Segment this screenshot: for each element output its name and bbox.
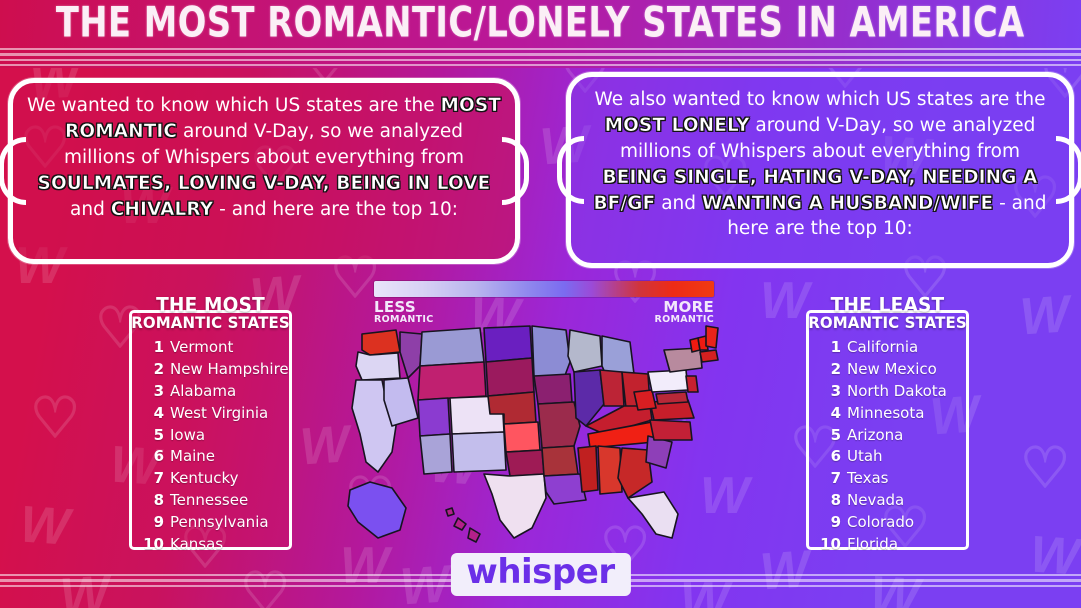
- rank-number: 2: [819, 359, 841, 381]
- callout-segment-0: We wanted to know which US states are th…: [27, 95, 441, 116]
- callout-segment-4: and: [655, 193, 702, 214]
- map-state-md: [656, 392, 688, 404]
- watermark-w-icon: W: [758, 543, 807, 598]
- legend-more-main: MORE: [663, 298, 714, 316]
- stripe-line: [0, 64, 1081, 66]
- state-name: Pennsylvania: [170, 512, 269, 534]
- map-state-ak: [348, 482, 406, 538]
- least-romantic-heading: THE LEAST ROMANTIC STATES: [793, 295, 983, 332]
- rank-number: 5: [142, 425, 164, 447]
- map-state-az: [420, 434, 452, 474]
- state-name: Maine: [170, 446, 215, 468]
- map-state-wv: [634, 390, 656, 410]
- state-name: New Mexico: [847, 359, 937, 381]
- most-lonely-callout: We also wanted to know which US states a…: [566, 72, 1074, 268]
- map-state-ms: [578, 446, 598, 492]
- map-state-nm: [452, 432, 506, 472]
- rank-number: 9: [819, 512, 841, 534]
- list-item: 5Iowa: [142, 425, 279, 447]
- state-name: Florida: [847, 534, 898, 556]
- title-bar: THE MOST ROMANTIC/LONELY STATES IN AMERI…: [0, 0, 1081, 46]
- map-state-tx: [484, 474, 546, 538]
- map-state-wy: [418, 362, 486, 400]
- us-map-svg: [334, 322, 726, 554]
- map-state-wa: [362, 330, 400, 355]
- state-name: Kentucky: [170, 468, 239, 490]
- map-state-mt: [420, 328, 484, 366]
- callout-segment-6: - and here are the top 10:: [213, 199, 458, 220]
- map-state-nv: [384, 378, 418, 426]
- rank-number: 1: [142, 337, 164, 359]
- map-state-mo: [538, 402, 580, 448]
- state-name: Utah: [847, 446, 883, 468]
- rank-number: 4: [142, 403, 164, 425]
- rank-number: 9: [142, 512, 164, 534]
- legend-less-main: LESS: [374, 298, 416, 316]
- list-item: 9Colorado: [819, 512, 956, 534]
- state-name: Minnesota: [847, 403, 924, 425]
- legend-less-sub: ROMANTIC: [374, 315, 434, 325]
- callout-segment-5: CHIVALRY: [111, 199, 214, 220]
- list-item: 10Kansas: [142, 534, 279, 556]
- legend-gradient-bar: [374, 281, 714, 297]
- callout-segment-5: WANTING A HUSBAND/WIFE: [702, 193, 993, 214]
- list-item: 2New Mexico: [819, 359, 956, 381]
- map-state-hi-island-2: [454, 518, 466, 530]
- most-romantic-list: 1Vermont2New Hampshire3Alabama4West Virg…: [142, 337, 279, 556]
- most-romantic-ranking-box: THE MOST ROMANTIC STATES 1Vermont2New Ha…: [129, 310, 292, 550]
- list-item: 3North Dakota: [819, 381, 956, 403]
- list-item: 10Florida: [819, 534, 956, 556]
- callout-segment-4: and: [70, 199, 111, 220]
- callout-segment-3: SOULMATES, LOVING V-DAY, BEING IN LOVE: [38, 173, 491, 194]
- page-title: THE MOST ROMANTIC/LONELY STATES IN AMERI…: [56, 0, 1025, 47]
- rank-number: 2: [142, 359, 164, 381]
- state-name: California: [847, 337, 918, 359]
- legend-label-more: MORE ROMANTIC: [654, 300, 714, 325]
- state-name: Arizona: [847, 425, 903, 447]
- watermark-w-icon: W: [18, 498, 67, 553]
- top-stripe-band: [0, 46, 1081, 68]
- list-item: 7Kentucky: [142, 468, 279, 490]
- stripe-line: [0, 59, 1081, 61]
- least-romantic-list: 1California2New Mexico3North Dakota4Minn…: [819, 337, 956, 556]
- map-state-ks: [504, 422, 540, 452]
- rank-number: 5: [819, 425, 841, 447]
- most-romantic-heading-line2: ROMANTIC STATES: [116, 314, 306, 333]
- rank-number: 8: [819, 490, 841, 512]
- most-lonely-callout-text: We also wanted to know which US states a…: [593, 89, 1046, 239]
- map-state-in: [600, 370, 624, 406]
- list-item: 6Maine: [142, 446, 279, 468]
- whisper-logo: whisper: [450, 553, 630, 596]
- map-state-hi: [446, 508, 454, 516]
- rank-number: 1: [819, 337, 841, 359]
- list-item: 2New Hampshire: [142, 359, 279, 381]
- map-state-me: [706, 326, 718, 348]
- map-state-ia: [534, 374, 572, 404]
- map-state-mn: [532, 326, 570, 378]
- rank-number: 10: [819, 534, 841, 556]
- map-state-fl: [628, 492, 678, 538]
- list-item: 4Minnesota: [819, 403, 956, 425]
- list-item: 8Nevada: [819, 490, 956, 512]
- rank-number: 7: [142, 468, 164, 490]
- map-state-pa: [648, 370, 688, 392]
- most-romantic-callout-text: We wanted to know which US states are th…: [27, 95, 501, 220]
- state-name: West Virginia: [170, 403, 268, 425]
- map-state-la: [544, 474, 586, 504]
- map-state-hi-island-3: [468, 528, 480, 542]
- rank-number: 6: [819, 446, 841, 468]
- most-romantic-callout: We wanted to know which US states are th…: [8, 78, 520, 264]
- rank-number: 7: [819, 468, 841, 490]
- list-item: 7Texas: [819, 468, 956, 490]
- state-name: Colorado: [847, 512, 914, 534]
- list-item: 1Vermont: [142, 337, 279, 359]
- map-state-il: [574, 370, 604, 426]
- callout-segment-1: MOST LONELY: [605, 115, 750, 136]
- state-name: Alabama: [170, 381, 236, 403]
- watermark-w-icon: W: [1018, 288, 1067, 343]
- map-state-wi: [568, 330, 602, 372]
- list-item: 3Alabama: [142, 381, 279, 403]
- state-name: Tennessee: [170, 490, 248, 512]
- stripe-line: [0, 53, 1081, 56]
- map-state-nd: [484, 326, 532, 362]
- map-state-nj: [686, 376, 698, 392]
- rank-number: 6: [142, 446, 164, 468]
- state-name: Texas: [847, 468, 888, 490]
- legend-label-less: LESS ROMANTIC: [374, 300, 434, 325]
- rank-number: 10: [142, 534, 164, 556]
- state-name: Iowa: [170, 425, 205, 447]
- infographic-canvas: WW♡W♡W♡W♡♡W♡W♡W♡W♡W♡W♡W♡W♡WW♡W♡W♡W♡W♡W♡W…: [0, 0, 1081, 608]
- map-state-ok: [506, 450, 544, 476]
- list-item: 1California: [819, 337, 956, 359]
- map-state-nc: [650, 420, 692, 440]
- list-item: 4West Virginia: [142, 403, 279, 425]
- map-state-ut: [418, 398, 450, 436]
- map-state-ma: [700, 350, 718, 362]
- stripe-line: [0, 48, 1081, 50]
- state-name: Vermont: [170, 337, 233, 359]
- list-item: 9Pennsylvania: [142, 512, 279, 534]
- map-state-or: [356, 352, 400, 380]
- callout-segment-0: We also wanted to know which US states a…: [595, 89, 1046, 110]
- map-state-id: [400, 332, 422, 378]
- least-romantic-heading-line2: ROMANTIC STATES: [793, 314, 983, 333]
- list-item: 8Tennessee: [142, 490, 279, 512]
- list-item: 5Arizona: [819, 425, 956, 447]
- rank-number: 3: [819, 381, 841, 403]
- legend-more-sub: ROMANTIC: [654, 315, 714, 325]
- map-state-ar: [542, 446, 578, 476]
- map-color-legend: LESS ROMANTIC MORE ROMANTIC: [374, 281, 714, 297]
- most-romantic-heading: THE MOST ROMANTIC STATES: [116, 295, 306, 332]
- least-romantic-ranking-box: THE LEAST ROMANTIC STATES 1California2Ne…: [806, 310, 969, 550]
- state-name: Kansas: [170, 534, 223, 556]
- rank-number: 4: [819, 403, 841, 425]
- state-name: New Hampshire: [170, 359, 289, 381]
- state-name: North Dakota: [847, 381, 947, 403]
- us-choropleth-map: [334, 322, 726, 554]
- list-item: 6Utah: [819, 446, 956, 468]
- state-name: Nevada: [847, 490, 904, 512]
- watermark-heart-icon: ♡: [1020, 440, 1070, 496]
- map-state-sd: [486, 358, 534, 396]
- watermark-heart-icon: ♡: [30, 390, 80, 446]
- rank-number: 8: [142, 490, 164, 512]
- rank-number: 3: [142, 381, 164, 403]
